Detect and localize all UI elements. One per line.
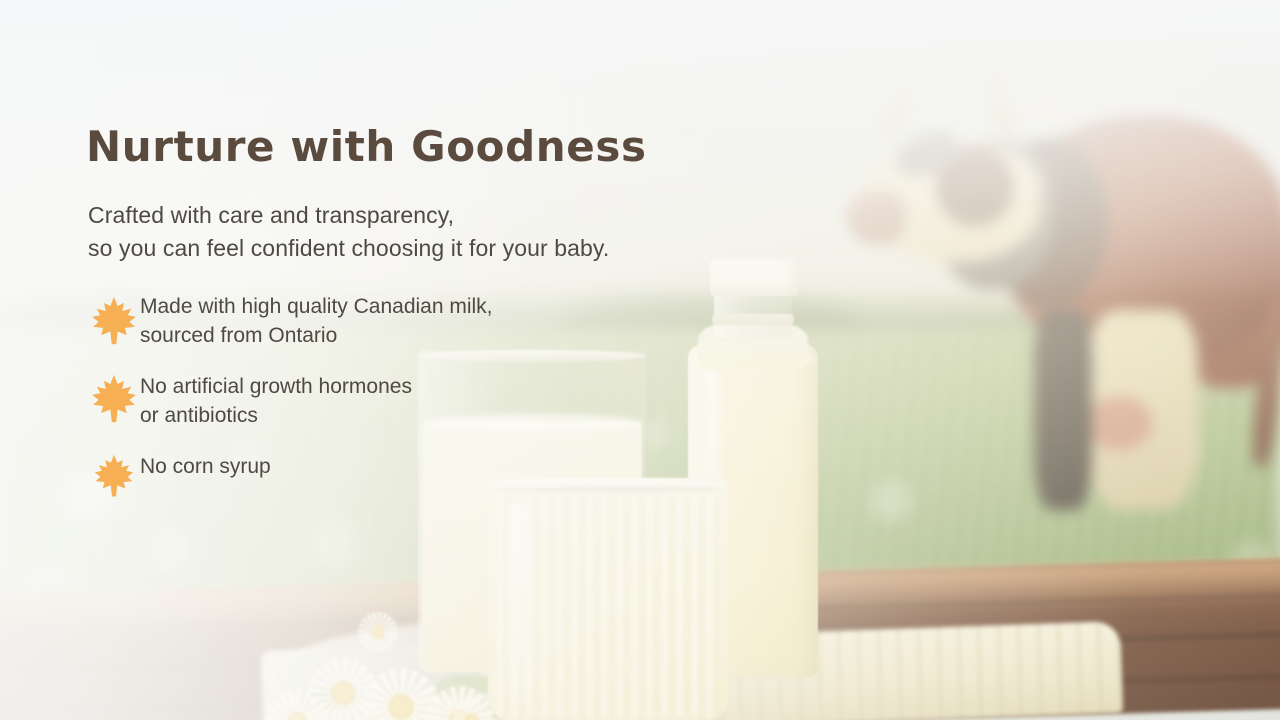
maple-leaf-icon (88, 450, 140, 498)
maple-leaf-icon (88, 370, 140, 424)
list-item: No artificial growth hormones or antibio… (88, 370, 688, 430)
list-item: No corn syrup (88, 450, 688, 498)
page-title: Nurture with Goodness (86, 122, 647, 171)
list-item-label: No corn syrup (140, 450, 271, 481)
list-item-label: Made with high quality Canadian milk, so… (140, 292, 493, 350)
list-item: Made with high quality Canadian milk, so… (88, 292, 688, 350)
marketing-slide: Nurture with Goodness Crafted with care … (0, 0, 1280, 720)
benefits-list: Made with high quality Canadian milk, so… (88, 292, 688, 518)
maple-leaf-icon (88, 292, 140, 346)
subtitle: Crafted with care and transparency, so y… (88, 199, 609, 265)
list-item-label: No artificial growth hormones or antibio… (140, 370, 412, 430)
content-column: Nurture with Goodness Crafted with care … (0, 0, 700, 720)
